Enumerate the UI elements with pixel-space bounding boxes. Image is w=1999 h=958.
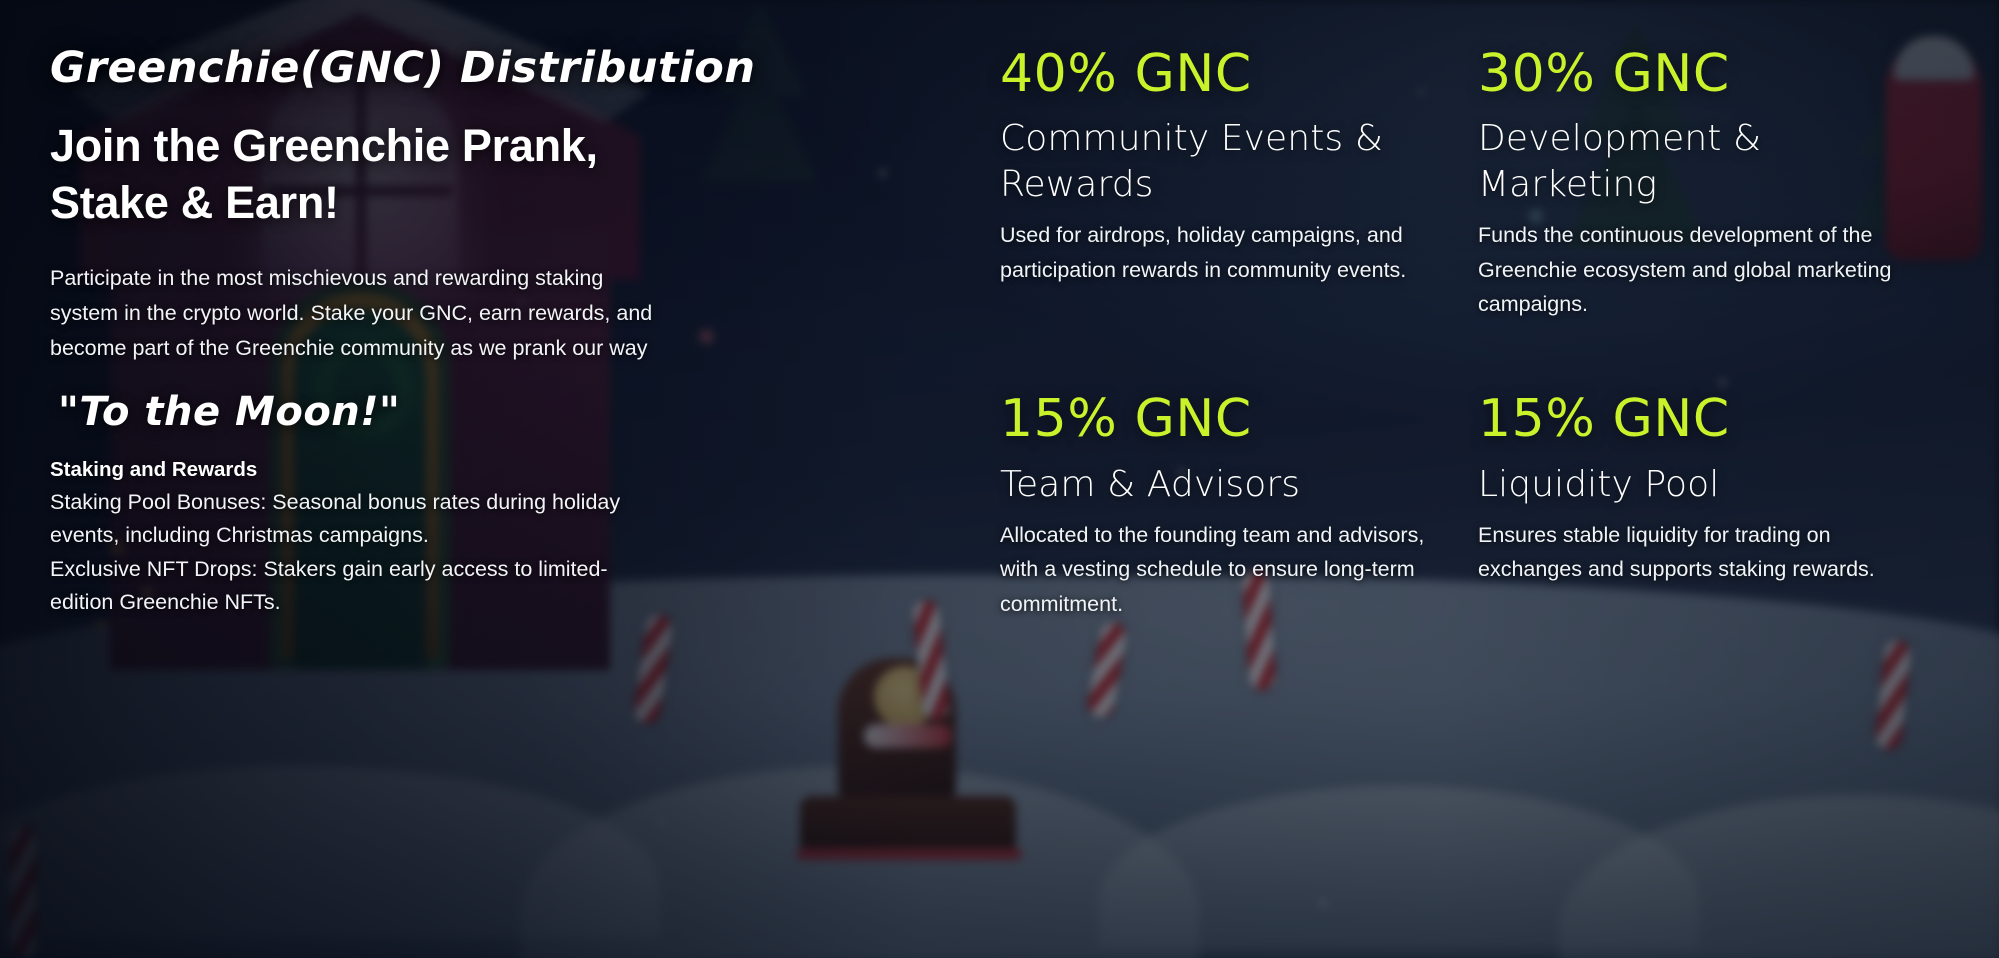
allocation-percent: 15% GNC: [1478, 391, 1939, 447]
distribution-card-community: 40% GNC Community Events & Rewards Used …: [1000, 46, 1478, 321]
allocation-percent: 30% GNC: [1478, 46, 1939, 102]
allocation-description: Funds the continuous development of the …: [1478, 218, 1908, 321]
distribution-grid: 40% GNC Community Events & Rewards Used …: [1000, 46, 1999, 958]
allocation-title: Liquidity Pool: [1478, 462, 1908, 508]
allocation-description: Used for airdrops, holiday campaigns, an…: [1000, 218, 1430, 287]
hero-content: Greenchie(GNC) Distribution Join the Gre…: [0, 0, 1999, 958]
hero-section: Greenchie(GNC) Distribution Join the Gre…: [0, 0, 1999, 958]
allocation-percent: 40% GNC: [1000, 46, 1438, 102]
allocation-percent: 15% GNC: [1000, 391, 1438, 447]
left-column: Greenchie(GNC) Distribution Join the Gre…: [0, 46, 1000, 958]
allocation-description: Ensures stable liquidity for trading on …: [1478, 518, 1908, 587]
staking-bullet: Staking Pool Bonuses: Seasonal bonus rat…: [50, 486, 670, 553]
distribution-card-team: 15% GNC Team & Advisors Allocated to the…: [1000, 391, 1478, 620]
allocation-title: Community Events & Rewards: [1000, 116, 1430, 208]
allocation-description: Allocated to the founding team and advis…: [1000, 518, 1430, 621]
hero-lead-paragraph: Participate in the most mischievous and …: [50, 261, 670, 365]
page-title: Greenchie(GNC) Distribution: [50, 46, 940, 91]
allocation-title: Development & Marketing: [1478, 116, 1908, 208]
distribution-card-liquidity: 15% GNC Liquidity Pool Ensures stable li…: [1478, 391, 1979, 620]
allocation-title: Team & Advisors: [1000, 462, 1430, 508]
hero-headline: Join the Greenchie Prank, Stake & Earn!: [50, 117, 690, 231]
moon-quote: "To the Moon!": [58, 390, 940, 434]
staking-bullet: Exclusive NFT Drops: Stakers gain early …: [50, 553, 670, 620]
staking-section-title: Staking and Rewards: [50, 458, 940, 482]
distribution-card-development: 30% GNC Development & Marketing Funds th…: [1478, 46, 1979, 321]
